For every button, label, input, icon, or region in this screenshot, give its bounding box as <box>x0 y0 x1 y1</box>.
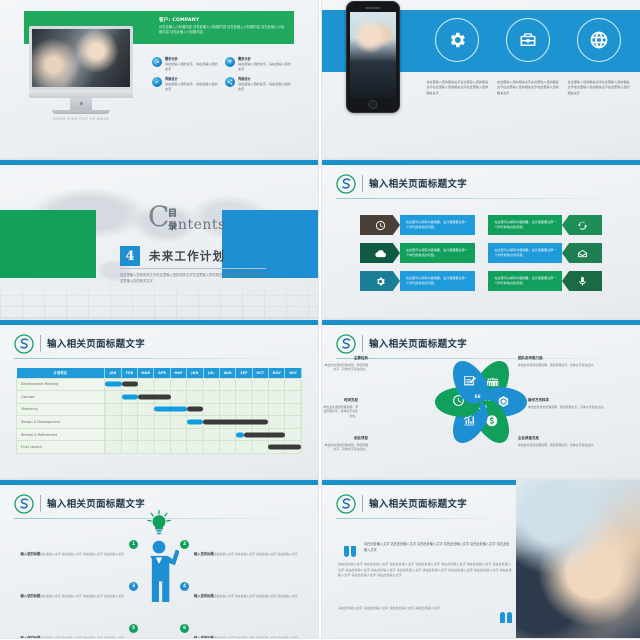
contents-item-number: 4 <box>120 246 140 266</box>
gantt-bar-progress <box>236 432 244 437</box>
number-badge: 4 <box>180 582 189 591</box>
gantt-body: Development MeetingConceptSketchingDesig… <box>17 378 302 454</box>
gantt-bar-remaining <box>138 394 171 399</box>
company-label: 客户: COMPANY <box>159 17 199 23</box>
gantt-bar <box>187 420 269 425</box>
contents-item-description: 在这里输入您的相关文字在这里输入您的相关文字在这里输入您的相关文字在这里输入您的… <box>120 272 270 284</box>
number-badge: 5 <box>129 624 138 633</box>
number-badge: 1 <box>129 540 138 549</box>
gantt-task-label: Concept <box>17 391 105 404</box>
petal-caption-03: 企业资金充足单击此处添加管理说明，添加管理文字，具体文字意在此处。 <box>518 436 634 447</box>
divider <box>120 268 266 269</box>
slide-thumbnail-3-contents[interactable]: C 目录 ontents 4 未来工作计划 在这里输入您的相关文字在这里输入您的… <box>0 160 318 318</box>
banner-description: 请在此输入小标题内容 请在此输入小标题内容 请在此输入小标题内容 请在此输入小标… <box>159 25 287 36</box>
gantt-header-row: 计划项目JANFEBMARAPRMAYJUNJULAUGSEPOCTNOVDEC <box>17 368 302 378</box>
gantt-month-header: AUG <box>219 368 235 378</box>
slide-thumbnail-5-gantt[interactable]: 输入相关页面标题文字 计划项目JANFEBMARAPRMAYJUNJULAUGS… <box>0 320 318 478</box>
petal-caption-01: 团队协作能力强单击此处添加管理说明，添加管理文字，具体文字意在此处。 <box>518 356 634 367</box>
gantt-chart: 计划项目JANFEBMARAPRMAYJUNJULAUGSEPOCTNOVDEC… <box>16 368 302 454</box>
s-logo-icon <box>14 494 34 514</box>
wifi-icon <box>225 57 235 67</box>
s-logo-icon <box>336 174 356 194</box>
numbered-item-5[interactable]: 输入您的标题请在此输入文字 请在此输入文字 请在此输入文字 请在此输入文字5 <box>18 624 138 638</box>
petal-number: 06 <box>475 394 481 399</box>
s-logo-icon <box>336 334 356 354</box>
gantt-track <box>105 428 302 441</box>
petal-description: 单击此处添加管理说明，添加管理文字，具体文字意在此处。 <box>528 405 634 410</box>
page-title: 输入相关页面标题文字 <box>369 176 467 190</box>
slide-thumbnail-8-quote[interactable]: 输入相关页面标题文字 请在此处输入文字 请在此处输入文字 请在此处输入文字 请在… <box>322 480 640 638</box>
description-column: 在这里输入您的相关文字在这里输入您的相关文字在这里输入您的相关文字在这里输入您的… <box>426 80 488 96</box>
item-description: 请在此输入文字 请在此输入文字 请在此输入文字 请在此输入文字 <box>214 636 298 638</box>
page-title: 输入相关页面标题文字 <box>47 496 145 510</box>
number-badge: 3 <box>129 582 138 591</box>
header-rule <box>336 518 504 519</box>
s-logo-icon <box>336 494 356 514</box>
item-description: 请在此输入文字 请在此输入文字 请在此输入文字 请在此输入文字 <box>214 594 298 598</box>
petal-title: 主要任务 <box>322 356 368 361</box>
gantt-month-header: JUL <box>203 368 219 378</box>
petal-title: 团队协作能力强 <box>518 356 634 361</box>
gantt-table: 计划项目JANFEBMARAPRMAYJUNJULAUGSEPOCTNOVDEC… <box>16 368 302 454</box>
quote-footer-text: 请在此处输入文字 请在此处输入文字 请在此处输入文字 请在此处输入文字 <box>338 606 498 612</box>
contents-item-label: 未来工作计划 <box>149 248 225 264</box>
petal-title: 企业资金充足 <box>518 436 634 441</box>
petal-title: 操作方式科学 <box>528 398 634 403</box>
item-title: 输入您的标题 <box>194 552 214 556</box>
quote-body-text: 请在此处输入文字 请在此处输入文字 请在此处输入文字 请在此处输入文字 请在此处… <box>338 562 514 579</box>
slide-header: 输入相关页面标题文字 <box>336 494 504 516</box>
gantt-bar-remaining <box>122 382 138 387</box>
s-logo-icon <box>14 334 34 354</box>
petal-diagram: 010203040506 <box>433 354 529 450</box>
arrow-bar[interactable]: 在这里可以填写内容摘要，设计者需要注意一个时代的信息的问题。 <box>488 271 603 291</box>
gantt-bar-remaining <box>244 432 285 437</box>
gantt-bar-progress <box>105 382 121 387</box>
envelope-icon <box>562 243 602 263</box>
slide-deck-grid: 客户: COMPANY 请在此输入小标题内容 请在此输入小标题内容 请在此输入小… <box>0 0 640 640</box>
slide-header: 输入相关页面标题文字 <box>14 334 304 356</box>
check-icon <box>152 77 162 87</box>
numbered-item-3[interactable]: 输入您的标题请在此输入文字 请在此输入文字 请在此输入文字 请在此输入文字3 <box>18 582 138 601</box>
item-description: 请在此输入文字 请在此输入文字 请在此输入文字 请在此输入文字 <box>40 594 124 598</box>
number-badge: 2 <box>180 540 189 549</box>
gantt-row: Design & Development <box>17 416 302 429</box>
meeting-photo <box>32 29 130 87</box>
feature-title: 需求分析 <box>238 57 291 62</box>
arrow-bar-list: 在这里可以填写内容摘要，设计者需要注意一个时代的信息的问题。在这里可以填写内容摘… <box>360 215 602 291</box>
page-title: 输入相关页面标题文字 <box>47 336 145 350</box>
item-text: 输入您的标题请在此输入文字 请在此输入文字 请在此输入文字 请在此输入文字 <box>21 624 124 638</box>
petal-description: 单击此处添加管理说明，添加管理文字，具体文字意在此处。 <box>322 405 358 419</box>
header-rule <box>14 358 304 359</box>
contents-item-4[interactable]: 4 未来工作计划 <box>120 246 225 266</box>
gantt-task-label: Review & Refinement <box>17 428 105 441</box>
page-title: 输入相关页面标题文字 <box>369 336 467 350</box>
quote-lead-text: 请在此处输入文字 请在此处输入文字 请在此处输入文字 请在此处输入文字 请在此处… <box>364 542 512 554</box>
arrow-bar-text: 在这里可以填写内容摘要，设计者需要注意一个时代的信息的问题。 <box>488 215 563 235</box>
gantt-bar <box>122 394 171 399</box>
feature-item[interactable]: 需求分析请在此输入您的文字、请在此输入您的文字 <box>152 57 218 72</box>
numbered-item-4[interactable]: 4输入您的标题请在此输入文字 请在此输入文字 请在此输入文字 请在此输入文字 <box>180 582 300 601</box>
petal-description: 单击此处添加管理说明，添加管理文字，具体文字意在此处。 <box>518 363 634 368</box>
arrow-bar-text: 在这里可以填写内容摘要，设计者需要注意一个时代的信息的问题。 <box>488 243 563 263</box>
gear-icon[interactable] <box>435 18 479 62</box>
petal-description: 单击此处添加管理说明，添加管理文字，具体文字意在此处。 <box>322 443 368 453</box>
petal-description: 单击此处添加管理说明，添加管理文字，具体文字意在此处。 <box>518 443 634 448</box>
apple-logo-icon <box>80 102 83 105</box>
feature-item[interactable]: 界面设计请在此输入您的文字、请在此输入您的文字 <box>152 77 218 92</box>
imac-stand-base <box>52 110 110 114</box>
imac-caption: ENTER YOUR TEXT OR IMAGE <box>29 117 133 122</box>
person-figure-icon <box>139 540 179 606</box>
arrow-bar[interactable]: 在这里可以填写内容摘要，设计者需要注意一个时代的信息的问题。 <box>360 215 475 235</box>
gantt-row: Sketching <box>17 403 302 416</box>
gantt-bar-remaining <box>203 420 268 425</box>
gantt-bar <box>268 445 301 450</box>
refresh-icon <box>562 215 602 235</box>
petal-title: 创业项目 <box>322 436 368 441</box>
slide-header: 输入相关页面标题文字 <box>336 334 626 356</box>
imac-chin <box>29 90 133 98</box>
gantt-track <box>105 391 302 404</box>
gantt-row: Concept <box>17 391 302 404</box>
slide-thumbnail-4-arrowbars[interactable]: 输入相关页面标题文字 在这里可以填写内容摘要，设计者需要注意一个时代的信息的问题… <box>322 160 640 318</box>
arrow-bar[interactable]: 在这里可以填写内容摘要，设计者需要注意一个时代的信息的问题。 <box>488 243 603 263</box>
gantt-track <box>105 416 302 429</box>
gantt-month-header: NOV <box>269 368 285 378</box>
gantt-task-label: Sketching <box>17 403 105 416</box>
numbered-item-6[interactable]: 6输入您的标题请在此输入文字 请在此输入文字 请在此输入文字 请在此输入文字 <box>180 624 300 638</box>
icon-circle-row <box>422 18 634 62</box>
big-c-letter: C <box>148 200 169 233</box>
open-quote-icon <box>344 542 358 553</box>
gantt-month-header: DEC <box>285 368 302 378</box>
item-title: 输入您的标题 <box>21 594 41 598</box>
gantt-bar-remaining <box>268 445 301 450</box>
header-divider <box>40 495 41 512</box>
item-title: 输入您的标题 <box>21 636 41 638</box>
share-icon <box>225 77 235 87</box>
top-accent-bar <box>322 160 640 165</box>
contents-title-en: ontents <box>169 217 226 233</box>
arrow-bar-text: 在这里可以填写内容摘要，设计者需要注意一个时代的信息的问题。 <box>400 215 475 235</box>
header-divider <box>362 335 363 352</box>
gantt-month-header: FEB <box>121 368 137 378</box>
item-description: 请在此输入文字 请在此输入文字 请在此输入文字 请在此输入文字 <box>40 552 124 556</box>
number-badge: 6 <box>180 624 189 633</box>
handshake-photo <box>516 480 640 638</box>
feature-text: 界面设计请在此输入您的文字、请在此输入您的文字 <box>165 77 218 92</box>
gantt-bar-progress <box>122 394 138 399</box>
petal-caption-05: 时间充足单击此处添加管理说明，添加管理文字，具体文字意在此处。 <box>322 398 358 419</box>
top-accent-bar <box>322 320 640 325</box>
feature-title: 界面设计 <box>165 77 218 82</box>
item-title: 输入您的标题 <box>194 594 214 598</box>
top-accent-bar <box>0 480 318 485</box>
item-text: 输入您的标题请在此输入文字 请在此输入文字 请在此输入文字 请在此输入文字 <box>194 582 297 601</box>
gear-icon <box>360 271 400 291</box>
item-description: 请在此输入文字 请在此输入文字 请在此输入文字 请在此输入文字 <box>214 552 298 556</box>
header-divider <box>362 175 363 192</box>
gantt-bar-progress <box>187 420 203 425</box>
gantt-month-header: MAY <box>170 368 186 378</box>
item-title: 输入您的标题 <box>194 636 214 638</box>
petal-description: 单击此处添加管理说明，添加管理文字，具体文字意在此处。 <box>322 363 368 373</box>
at-icon <box>152 57 162 67</box>
item-text: 输入您的标题请在此输入文字 请在此输入文字 请在此输入文字 请在此输入文字 <box>194 624 297 638</box>
arrow-bar[interactable]: 在这里可以填写内容摘要，设计者需要注意一个时代的信息的问题。 <box>488 215 603 235</box>
feature-text: 界面设计请在此输入您的文字、请在此输入您的文字 <box>238 77 291 92</box>
arrow-bar-text: 在这里可以填写内容摘要，设计者需要注意一个时代的信息的问题。 <box>400 243 475 263</box>
gantt-bar <box>154 407 203 412</box>
green-block <box>0 210 96 278</box>
gantt-bar <box>105 382 138 387</box>
gantt-track <box>105 403 302 416</box>
clock-icon <box>360 215 400 235</box>
gantt-row: Development Meeting <box>17 378 302 391</box>
petal-caption-02: 操作方式科学单击此处添加管理说明，添加管理文字，具体文字意在此处。 <box>528 398 634 409</box>
item-title: 输入您的标题 <box>21 552 41 556</box>
top-accent-bar <box>0 320 318 325</box>
gantt-bar-remaining <box>187 407 203 412</box>
item-text: 输入您的标题请在此输入文字 请在此输入文字 请在此输入文字 请在此输入文字 <box>21 540 124 559</box>
arrow-bar[interactable]: 在这里可以填写内容摘要，设计者需要注意一个时代的信息的问题。 <box>360 271 475 291</box>
item-description: 请在此输入文字 请在此输入文字 请在此输入文字 请在此输入文字 <box>40 636 124 638</box>
phone-speaker <box>365 7 381 9</box>
item-text: 输入您的标题请在此输入文字 请在此输入文字 请在此输入文字 请在此输入文字 <box>194 540 297 559</box>
gantt-month-header: MAR <box>138 368 154 378</box>
imac-screen <box>29 26 133 90</box>
gantt-task-label: Final Launch <box>17 441 105 454</box>
petal-caption-04: 创业项目单击此处添加管理说明，添加管理文字，具体文字意在此处。 <box>322 436 368 452</box>
page-title: 输入相关页面标题文字 <box>369 496 467 510</box>
gantt-task-label: Design & Development <box>17 416 105 429</box>
slide-thumbnail-2[interactable]: 在这里输入您的相关文字在这里输入您的相关文字在这里输入您的相关文字在这里输入您的… <box>322 0 640 158</box>
gantt-month-header: JUN <box>187 368 203 378</box>
arrow-bar[interactable]: 在这里可以填写内容摘要，设计者需要注意一个时代的信息的问题。 <box>360 243 475 263</box>
gantt-bar-progress <box>154 407 187 412</box>
feature-text: 需求分析请在此输入您的文字、请在此输入您的文字 <box>165 57 218 72</box>
imac-mockup: ENTER YOUR TEXT OR IMAGE <box>29 26 133 122</box>
description-column: 在这里输入您的相关文字在这里输入您的相关文字在这里输入您的相关文字在这里输入您的… <box>568 80 630 96</box>
feature-list: 需求分析请在此输入您的文字、请在此输入您的文字需求分析请在此输入您的文字、请在此… <box>152 57 298 92</box>
contents-heading: C 目录 ontents <box>148 204 169 230</box>
arrow-bar-text: 在这里可以填写内容摘要，设计者需要注意一个时代的信息的问题。 <box>488 271 563 291</box>
phone-home-button <box>369 100 378 109</box>
briefcase-icon[interactable] <box>506 18 550 62</box>
gantt-month-header: OCT <box>252 368 268 378</box>
numbered-item-1[interactable]: 输入您的标题请在此输入文字 请在此输入文字 请在此输入文字 请在此输入文字1 <box>18 540 138 559</box>
header-rule <box>336 198 626 199</box>
smartphone-mockup <box>346 1 400 113</box>
slide-thumbnail-7-idea[interactable]: 输入相关页面标题文字 输入您的标题请在此输入文字 请在此输入文字 请在此输入文字 <box>0 480 318 638</box>
gantt-month-header: SEP <box>236 368 252 378</box>
petal-title: 时间充足 <box>322 398 358 403</box>
gantt-task-label: Development Meeting <box>17 378 105 391</box>
feature-item[interactable]: 需求分析请在此输入您的文字、请在此输入您的文字 <box>225 57 291 72</box>
feature-title: 界面设计 <box>238 77 291 82</box>
slide-header: 输入相关页面标题文字 <box>336 174 626 196</box>
edit-icon <box>463 373 476 392</box>
gantt-col-header: 计划项目 <box>17 368 105 378</box>
gantt-month-header: APR <box>154 368 170 378</box>
microphone-icon <box>562 271 602 291</box>
gantt-row: Review & Refinement <box>17 428 302 441</box>
feature-text: 需求分析请在此输入您的文字、请在此输入您的文字 <box>238 57 291 72</box>
cloud-icon <box>360 243 400 263</box>
gantt-track <box>105 378 302 391</box>
slide-thumbnail-6-petals[interactable]: 输入相关页面标题文字 010203040506 团队协作能力强单击此处添加管理说… <box>322 320 640 478</box>
slide-thumbnail-1[interactable]: 客户: COMPANY 请在此输入小标题内容 请在此输入小标题内容 请在此输入小… <box>0 0 318 158</box>
description-columns: 在这里输入您的相关文字在这里输入您的相关文字在这里输入您的相关文字在这里输入您的… <box>422 80 634 96</box>
petal-caption-06: 主要任务单击此处添加管理说明，添加管理文字，具体文字意在此处。 <box>322 356 368 372</box>
description-column: 在这里输入您的相关文字在这里输入您的相关文字在这里输入您的相关文字在这里输入您的… <box>497 80 559 96</box>
numbered-item-2[interactable]: 2输入您的标题请在此输入文字 请在此输入文字 请在此输入文字 请在此输入文字 <box>180 540 300 559</box>
phone-screen-photo <box>350 12 396 98</box>
feature-title: 需求分析 <box>165 57 218 62</box>
feature-item[interactable]: 界面设计请在此输入您的文字、请在此输入您的文字 <box>225 77 291 92</box>
close-quote-icon <box>500 608 514 627</box>
gantt-track <box>105 441 302 454</box>
gantt-bar <box>236 432 285 437</box>
gantt-row: Final Launch <box>17 441 302 454</box>
globe-icon[interactable] <box>577 18 621 62</box>
arrow-bar-text: 在这里可以填写内容摘要，设计者需要注意一个时代的信息的问题。 <box>400 271 475 291</box>
lightbulb-icon <box>146 510 172 540</box>
item-text: 输入您的标题请在此输入文字 请在此输入文字 请在此输入文字 请在此输入文字 <box>21 582 124 601</box>
gantt-month-header: JAN <box>105 368 121 378</box>
header-divider <box>362 495 363 512</box>
header-divider <box>40 335 41 352</box>
